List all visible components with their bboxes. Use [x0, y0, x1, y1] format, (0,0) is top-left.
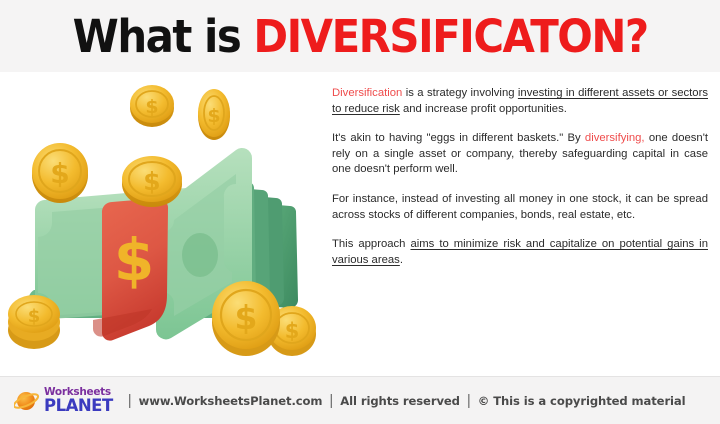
page-body: $ $ $ [0, 72, 720, 376]
term-diversifying: diversifying, [585, 132, 645, 144]
paragraph-3-text: For instance, instead of investing all m… [332, 193, 708, 221]
logo-line-planet: PLANET [44, 398, 113, 415]
page-title: What is DIVERSIFICATON? [72, 14, 647, 59]
coin-top-right: $ [198, 89, 230, 140]
paragraph-4-text-b: . [400, 254, 403, 266]
coin-stack-bottom-left: $ [8, 295, 60, 349]
planet-icon [14, 390, 40, 412]
infographic-page: What is DIVERSIFICATON? [0, 0, 720, 424]
coin-dollar-icon: $ [50, 157, 69, 190]
coin-dollar-icon: $ [28, 306, 41, 327]
paragraph-4: This approach aims to minimize risk and … [332, 237, 708, 268]
footer-rights: All rights reserved [340, 394, 460, 408]
coin-dollar-icon: $ [143, 167, 160, 196]
coin-dollar-icon: $ [145, 96, 158, 118]
page-title-red: DIVERSIFICATON? [253, 10, 647, 63]
footer-separator-2: | [329, 392, 333, 409]
footer-copyright: © This is a copyrighted material [478, 394, 686, 408]
page-footer: Worksheets PLANET | www.WorksheetsPlanet… [0, 376, 720, 424]
paragraph-2-text-a: It's akin to having "eggs in different b… [332, 132, 585, 144]
coin-dollar-icon: $ [235, 298, 258, 337]
coin-bottom-right-large: $ [212, 281, 280, 356]
money-illustration-svg: $ $ $ [4, 72, 326, 376]
dollar-sign-icon: $ [114, 226, 154, 294]
paragraph-1-text-b: and increase profit opportunities. [400, 103, 567, 115]
money-illustration: $ $ $ [4, 72, 326, 376]
paragraph-2: It's akin to having "eggs in different b… [332, 131, 708, 178]
worksheets-planet-logo[interactable]: Worksheets PLANET [14, 387, 113, 415]
footer-info-strip: | www.WorksheetsPlanet.com | All rights … [121, 392, 686, 409]
footer-separator-1: | [128, 392, 132, 409]
coin-left: $ [32, 143, 88, 203]
term-diversification: Diversification [332, 87, 402, 99]
banknote-red: $ [93, 198, 168, 341]
paragraph-1-text-a: is a strategy involving [402, 87, 518, 99]
footer-website[interactable]: www.WorksheetsPlanet.com [139, 394, 323, 408]
logo-wordmark: Worksheets PLANET [44, 387, 113, 415]
page-header: What is DIVERSIFICATON? [0, 0, 720, 72]
paragraph-1: Diversification is a strategy involving … [332, 86, 708, 117]
coin-top-center: $ [122, 156, 182, 207]
footer-separator-3: | [467, 392, 471, 409]
paragraph-4-text-a: This approach [332, 238, 410, 250]
page-title-black: What is [72, 10, 253, 63]
coin-top-left-small: $ [130, 85, 174, 127]
description-text-column: Diversification is a strategy involving … [332, 86, 708, 372]
coin-dollar-icon: $ [285, 319, 300, 343]
coin-dollar-icon: $ [207, 105, 220, 127]
paragraph-3: For instance, instead of investing all m… [332, 192, 708, 223]
